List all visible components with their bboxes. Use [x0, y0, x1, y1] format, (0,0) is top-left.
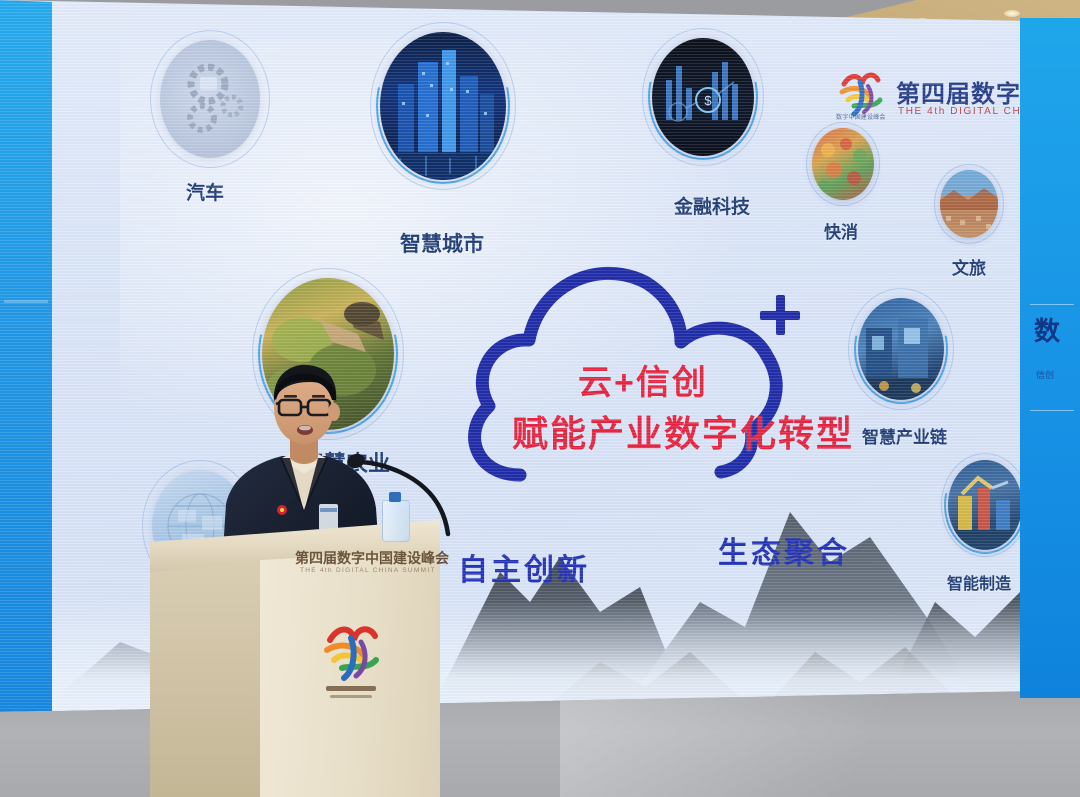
- category-bubble-smart-manufacturing[interactable]: [948, 460, 1022, 550]
- svg-text:$: $: [704, 93, 712, 108]
- category-bubble-fintech[interactable]: $: [652, 38, 754, 156]
- bubble-image-robotics: [948, 460, 1022, 550]
- plus-icon: [760, 295, 800, 335]
- category-bubble-smart-city[interactable]: [380, 32, 506, 180]
- category-label: 汽车: [186, 178, 224, 205]
- panel-divider: [1030, 304, 1074, 305]
- podium-title-en: THE 4th DIGITAL CHINA SUMMIT: [300, 567, 436, 574]
- screen-left-panel: [0, 0, 52, 716]
- podium-side: [150, 562, 262, 797]
- category-bubble-culture-tourism[interactable]: [940, 170, 998, 238]
- bottle-cap: [389, 492, 401, 502]
- bubble-image-factory: [858, 298, 944, 400]
- category-bubble-industry-chain[interactable]: [858, 298, 944, 400]
- category-label: 智慧产业链: [862, 423, 947, 448]
- headline-line-1: 云+信创: [578, 355, 708, 404]
- category-label: 文旅: [952, 254, 986, 279]
- category-bubble-automotive[interactable]: [160, 40, 260, 158]
- right-panel-subtitle: 信创: [1036, 368, 1054, 381]
- pillar-label-ecosystem: 生态聚合: [718, 528, 850, 572]
- bubble-image-gears: [160, 40, 260, 158]
- category-label: 快消: [824, 218, 858, 243]
- panel-divider: [1030, 410, 1074, 411]
- screen-left-panel-text: [4, 300, 48, 500]
- right-panel-title: 数: [1034, 318, 1060, 345]
- water-bottle: [382, 492, 408, 540]
- category-label: 智能制造: [947, 570, 1011, 594]
- bubble-image-finance: $: [652, 38, 754, 156]
- bottle-body: [382, 500, 410, 542]
- headline-line-2: 赋能产业数字化转型: [512, 405, 854, 457]
- bubble-image-night-city: [380, 32, 506, 180]
- podium-logo-mark-icon: [318, 622, 384, 708]
- conference-photo: 汽车: [0, 0, 1080, 797]
- screen-right-panel: 数 信创: [1020, 18, 1080, 698]
- bubble-image-travel: [940, 170, 998, 238]
- summit-logo-mark-subtitle: 数字中国建设峰会: [836, 112, 888, 123]
- downlight-icon: [1004, 10, 1020, 17]
